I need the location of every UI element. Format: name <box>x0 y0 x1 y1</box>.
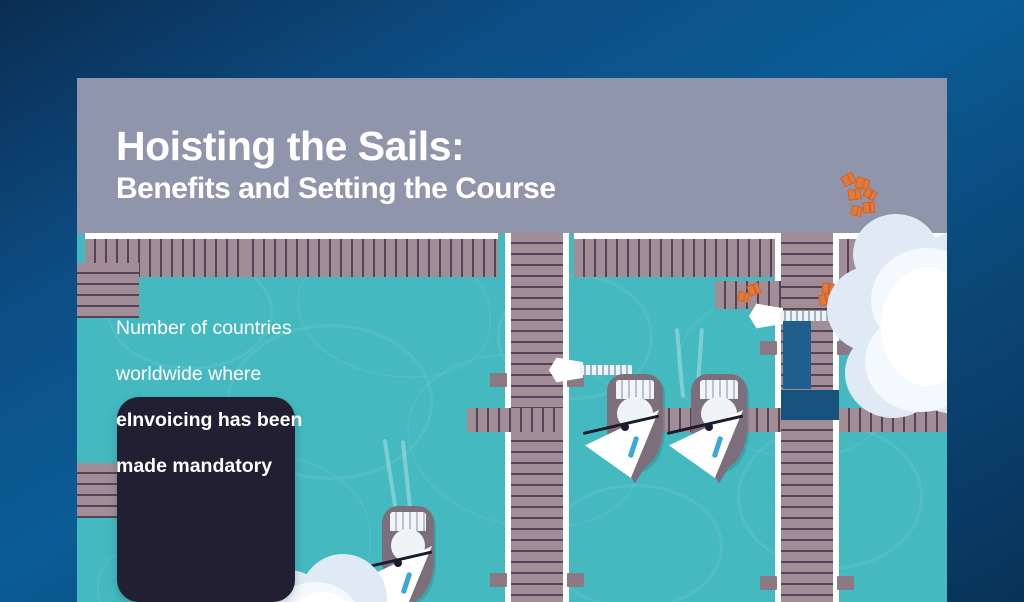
page-background: Hoisting the Sails: Benefits and Setting… <box>0 0 1024 602</box>
caption-regular-line1: Number of countries <box>116 317 302 340</box>
sailboat-mast <box>621 423 629 431</box>
page-subtitle: Benefits and Setting the Course <box>116 170 556 208</box>
cross-dock-lower-left <box>467 408 563 432</box>
sailboat-mast <box>705 423 713 431</box>
caption-block: Number of countries worldwide where eInv… <box>116 294 302 501</box>
motorboat-hull <box>549 356 583 384</box>
motorboat-hull <box>749 302 783 330</box>
motorboat-center <box>549 356 583 384</box>
dock-cleat <box>760 576 777 590</box>
dock-cleat <box>490 373 507 387</box>
caption-bold-line1: eInvoicing has been <box>116 409 302 432</box>
pier-edge <box>563 233 569 602</box>
cloud-top-right <box>819 208 947 418</box>
dock-cleat <box>490 573 507 587</box>
motorboat-right <box>749 302 783 330</box>
dock-cleat <box>837 576 854 590</box>
tarp-vertical <box>783 319 811 389</box>
crate-icon <box>737 291 750 303</box>
sailboat-right <box>691 374 747 470</box>
infographic-panel: Hoisting the Sails: Benefits and Setting… <box>77 78 947 602</box>
sailboat-center <box>607 374 663 470</box>
crate-icon <box>847 188 861 201</box>
title-block: Hoisting the Sails: Benefits and Setting… <box>116 126 556 207</box>
page-title: Hoisting the Sails: <box>116 126 556 168</box>
caption-regular-line2: worldwide where <box>116 363 302 386</box>
caption-bold-line2: made mandatory <box>116 455 302 478</box>
dock-top-center <box>243 239 498 277</box>
dock-cleat <box>760 341 777 355</box>
dock-cleat <box>567 573 584 587</box>
